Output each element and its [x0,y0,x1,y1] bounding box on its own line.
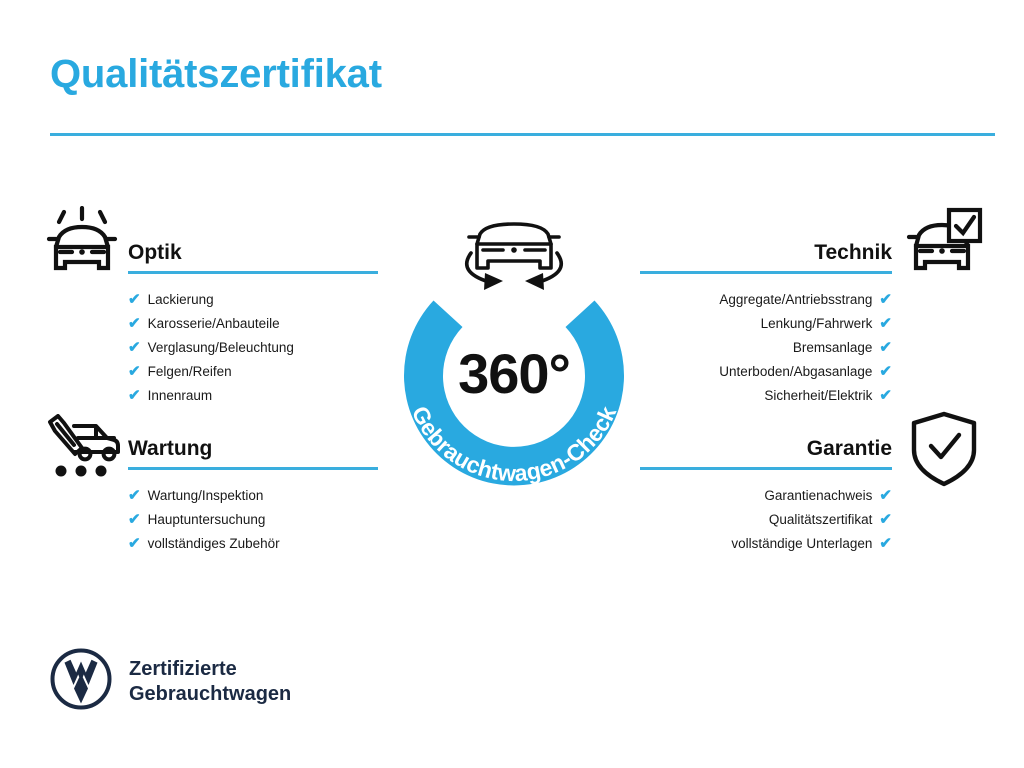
checklist-item-label: Sicherheit/Elektrik [764,384,872,408]
section-optik: Optik ✔Lackierung✔Karosserie/Anbauteile✔… [128,240,378,408]
checklist-item-label: vollständige Unterlagen [731,532,872,556]
section-wartung: Wartung ✔Wartung/Inspektion✔Hauptuntersu… [128,436,378,556]
checklist-item: Qualitätszertifikat✔ [640,508,892,532]
check-icon: ✔ [879,508,892,532]
checklist-item: Aggregate/Antriebsstrang✔ [640,288,892,312]
car-rotate-icon [467,224,562,290]
check-icon: ✔ [128,532,141,556]
checklist-item: ✔Hauptuntersuchung [128,508,378,532]
checklist-item-label: Aggregate/Antriebsstrang [719,288,872,312]
footer-line-1: Zertifizierte [129,657,291,682]
checklist-item: ✔Wartung/Inspektion [128,484,378,508]
checklist-item: ✔Verglasung/Beleuchtung [128,336,378,360]
check-icon: ✔ [879,288,892,312]
checklist-item-label: Bremsanlage [793,336,873,360]
car-checkbox-icon [904,206,984,283]
check-icon: ✔ [879,360,892,384]
car-wrench-icon [44,414,122,485]
vw-logo [50,648,112,715]
shield-check-icon [908,410,980,493]
check-icon: ✔ [879,484,892,508]
check-icon: ✔ [128,384,141,408]
checklist-item-label: Hauptuntersuchung [148,508,266,532]
checklist-item: Lenkung/Fahrwerk✔ [640,312,892,336]
checklist-optik: ✔Lackierung✔Karosserie/Anbauteile✔Vergla… [128,288,378,408]
checklist-item: vollständige Unterlagen✔ [640,532,892,556]
checklist-item-label: vollständiges Zubehör [148,532,280,556]
footer-line-2: Gebrauchtwagen [129,682,291,707]
check-icon: ✔ [879,336,892,360]
checklist-item-label: Unterboden/Abgasanlage [719,360,872,384]
checklist-item-label: Qualitätszertifikat [769,508,873,532]
check-icon: ✔ [128,484,141,508]
check-icon: ✔ [879,312,892,336]
section-header: Optik [128,240,378,278]
section-divider [640,467,892,470]
section-title: Optik [128,240,378,266]
check-icon: ✔ [879,384,892,408]
checklist-item-label: Garantienachweis [764,484,872,508]
checklist-item-label: Verglasung/Beleuchtung [148,336,294,360]
page-title: Qualitätszertifikat [50,52,382,97]
section-divider [640,271,892,274]
checklist-technik: Aggregate/Antriebsstrang✔Lenkung/Fahrwer… [640,288,892,408]
section-title: Garantie [640,436,892,462]
section-header: Garantie [640,436,892,474]
check-icon: ✔ [128,312,141,336]
checklist-item: ✔Innenraum [128,384,378,408]
checklist-item-label: Wartung/Inspektion [148,484,264,508]
checklist-item: Sicherheit/Elektrik✔ [640,384,892,408]
check-icon: ✔ [128,288,141,312]
checklist-item-label: Felgen/Reifen [148,360,232,384]
footer-brand: Zertifizierte Gebrauchtwagen [50,648,291,715]
badge-360: Gebrauchtwagen-Check 360° [368,196,660,496]
checklist-item-label: Lackierung [148,288,214,312]
badge-number: 360° [368,341,660,406]
section-garantie: Garantie Garantienachweis✔Qualitätszerti… [640,436,892,556]
checklist-item: Garantienachweis✔ [640,484,892,508]
check-icon: ✔ [128,336,141,360]
car-shine-icon [44,206,120,285]
footer-text: Zertifizierte Gebrauchtwagen [129,657,291,707]
checklist-item: ✔Lackierung [128,288,378,312]
section-title: Wartung [128,436,378,462]
section-header: Technik [640,240,892,278]
checklist-wartung: ✔Wartung/Inspektion✔Hauptuntersuchung✔vo… [128,484,378,556]
section-title: Technik [640,240,892,266]
title-divider [50,133,995,136]
section-divider [128,467,378,470]
checklist-item: ✔Felgen/Reifen [128,360,378,384]
check-icon: ✔ [879,532,892,556]
check-icon: ✔ [128,360,141,384]
check-icon: ✔ [128,508,141,532]
checklist-item-label: Innenraum [148,384,213,408]
section-header: Wartung [128,436,378,474]
checklist-item: ✔Karosserie/Anbauteile [128,312,378,336]
checklist-garantie: Garantienachweis✔Qualitätszertifikat✔vol… [640,484,892,556]
checklist-item-label: Karosserie/Anbauteile [148,312,280,336]
section-divider [128,271,378,274]
checklist-item-label: Lenkung/Fahrwerk [761,312,873,336]
section-technik: Technik Aggregate/Antriebsstrang✔Lenkung… [640,240,892,408]
checklist-item: Unterboden/Abgasanlage✔ [640,360,892,384]
checklist-item: ✔vollständiges Zubehör [128,532,378,556]
checklist-item: Bremsanlage✔ [640,336,892,360]
